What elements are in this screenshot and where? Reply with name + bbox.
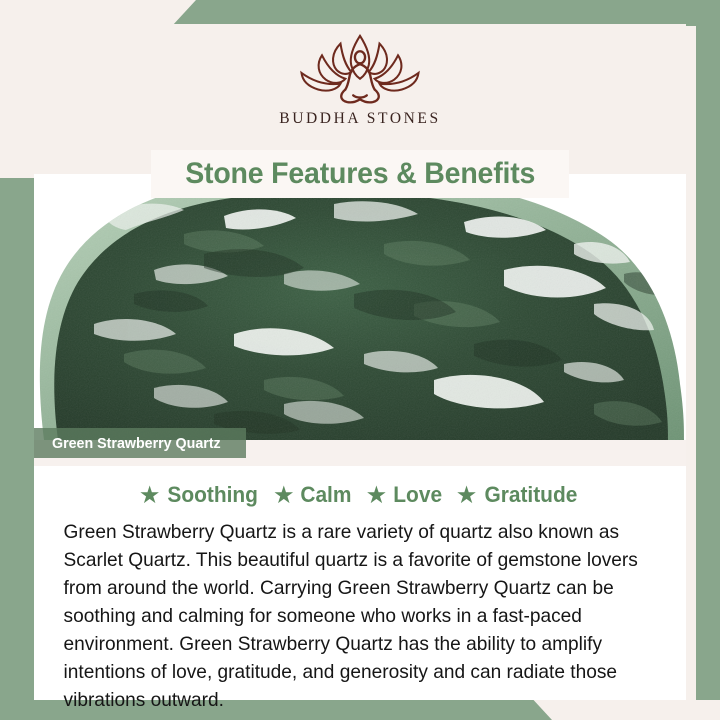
content-card: BUDDHA STONES [34,24,686,700]
frame-right-bar [696,0,720,700]
star-icon: ★ [140,485,159,506]
stone-description: Green Strawberry Quartz is a rare variet… [40,518,667,714]
brand-logo: BUDDHA STONES [34,30,686,128]
star-icon: ★ [274,485,293,506]
benefit-item-calm: ★ Calm [274,482,353,508]
page-title: Stone Features & Benefits [185,157,535,191]
benefit-label: Love [393,482,442,508]
lotus-meditation-icon [285,30,435,108]
benefit-item-soothing: ★ Soothing [140,482,260,508]
frame-left-bar [0,178,34,700]
benefit-label: Soothing [167,482,258,508]
stone-info-panel: ★ Soothing ★ Calm ★ Love ★ Gratitude Gre… [34,466,686,700]
star-icon: ★ [367,485,386,506]
frame-top-band [172,0,720,26]
benefit-label: Calm [301,482,352,508]
benefits-row: ★ Soothing ★ Calm ★ Love ★ Gratitude [40,482,680,508]
star-icon: ★ [457,485,476,506]
benefit-item-gratitude: ★ Gratitude [457,482,580,508]
benefit-label: Gratitude [484,482,577,508]
benefit-item-love: ★ Love [367,482,443,508]
stone-photo-graphic [34,174,686,440]
page-title-banner: Stone Features & Benefits [151,150,569,198]
stone-photo [34,174,686,440]
brand-name: BUDDHA STONES [279,110,440,128]
photo-caption-label: Green Strawberry Quartz [52,435,221,452]
photo-caption-band: Green Strawberry Quartz [34,428,246,458]
